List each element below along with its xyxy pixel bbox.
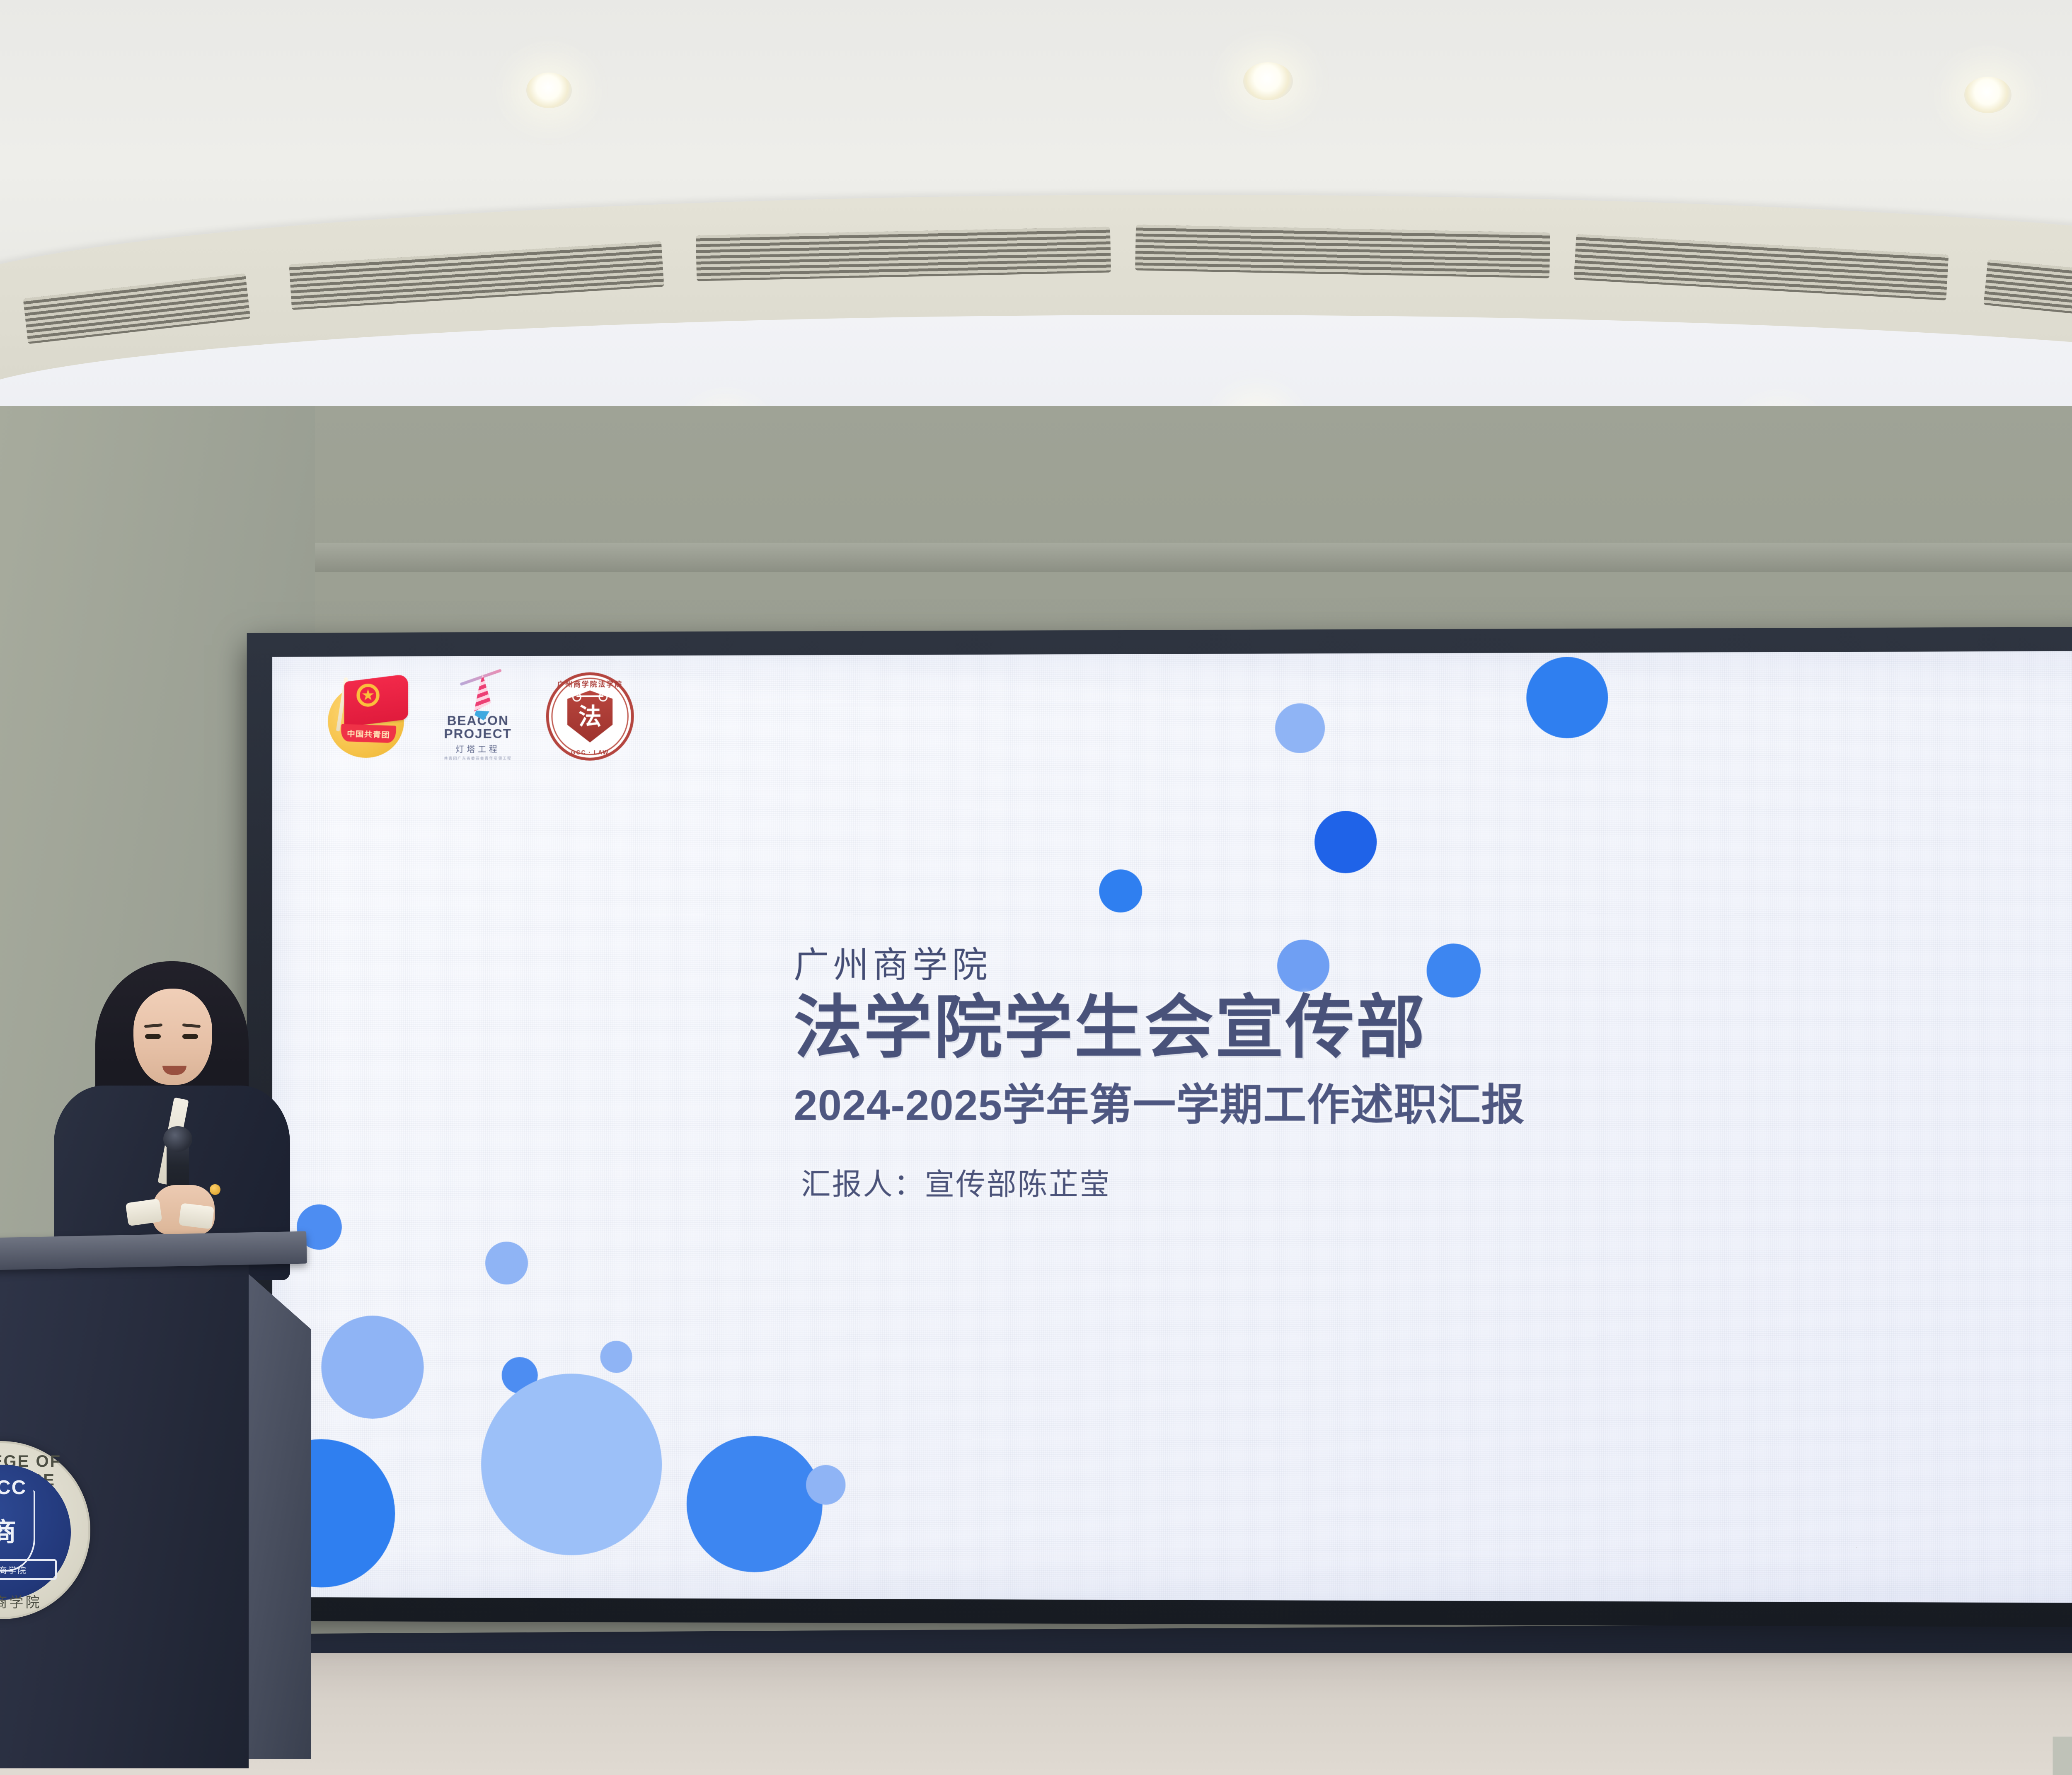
crest-bottom-text: GCC · LAW — [546, 749, 634, 756]
star-icon — [356, 684, 379, 707]
emblem-banner: 中国共青团 — [341, 724, 396, 743]
beacon-tagline: 共青团广东省委员会青年引领工程 — [444, 755, 512, 761]
decorative-circle — [1526, 657, 1608, 738]
decorative-circle — [321, 1316, 424, 1419]
led-screen-bezel: 中国共青团 BEACON PROJECT 灯塔工程 共青团广东省委员会青年引领工… — [247, 626, 2072, 1627]
speaker-eye — [182, 1034, 198, 1039]
presenter-at-podium — [46, 961, 303, 1276]
decorative-circle — [1275, 703, 1325, 753]
ceiling-vent-grille — [696, 227, 1111, 281]
podium-side-panel — [244, 1270, 311, 1759]
ceiling-downlight — [1243, 62, 1293, 100]
decorative-circle — [600, 1341, 632, 1373]
podium-front-panel: COLLEGE OF COMMERCE GCC 商 广州商学院 广州商学院 — [0, 1263, 249, 1768]
slide-headline: 法学院学生会宣传部 — [794, 992, 1525, 1064]
beacon-chinese: 灯塔工程 — [456, 742, 500, 754]
emblem-banner-text: 中国共青团 — [347, 727, 390, 740]
gcc-college-seal: COLLEGE OF COMMERCE GCC 商 广州商学院 广州商学院 — [0, 1441, 90, 1619]
decorative-circle — [806, 1465, 845, 1505]
beacon-project-logo: BEACON PROJECT 灯塔工程 共青团广东省委员会青年引领工程 — [440, 672, 516, 761]
ceiling-downlight — [1964, 77, 2011, 113]
speaker-cuff — [126, 1199, 162, 1226]
slide-eyebrow: 广州商学院 — [794, 935, 1525, 988]
slide-text-block: 广州商学院 法学院学生会宣传部 2024-2025学年第一学期工作述职汇报 汇报… — [794, 935, 1525, 1203]
microphone-head-icon — [163, 1126, 192, 1152]
ceiling-vent-grille — [1135, 225, 1550, 278]
scales-of-justice-icon — [576, 695, 603, 697]
crest-top-text: 广州商学院法学院 — [546, 678, 634, 689]
seal-ribbon: 广州商学院 — [0, 1559, 57, 1580]
slide-subline: 2024-2025学年第一学期工作述职汇报 — [794, 1069, 1525, 1132]
decorative-circle — [1314, 811, 1377, 873]
ceiling-downlight — [526, 73, 572, 108]
slide-presenter: 汇报人：宣传部陈芷莹 — [801, 1159, 1525, 1203]
slide-logo-row: 中国共青团 BEACON PROJECT 灯塔工程 共青团广东省委员会青年引领工… — [325, 672, 634, 761]
presentation-slide: 中国共青团 BEACON PROJECT 灯塔工程 共青团广东省委员会青年引领工… — [272, 651, 2072, 1603]
lecture-hall-photo: 中国共青团 BEACON PROJECT 灯塔工程 共青团广东省委员会青年引领工… — [0, 0, 2072, 1775]
crest-shield-char: 法 — [579, 705, 602, 728]
law-school-crest: 广州商学院法学院 法 GCC · LAW — [546, 672, 634, 761]
communist-youth-league-emblem: 中国共青团 — [325, 675, 410, 759]
decorative-circle — [1099, 869, 1142, 912]
decorative-circle — [687, 1436, 823, 1572]
speaker-cuff — [179, 1203, 214, 1229]
lapel-pin-icon — [210, 1184, 220, 1195]
decorative-circle — [485, 1242, 528, 1285]
decorative-circle — [481, 1374, 662, 1555]
podium-top-surface — [0, 1231, 307, 1271]
seal-chinese-mark: 商 — [0, 1511, 42, 1548]
seal-bottom-text: 广州商学院 — [0, 1591, 88, 1611]
beacon-lighthouse-icon — [453, 672, 503, 714]
beacon-line2: PROJECT — [444, 727, 511, 741]
podium: COLLEGE OF COMMERCE GCC 商 广州商学院 广州商学院 — [0, 1235, 319, 1775]
speaker-eye — [145, 1034, 161, 1039]
